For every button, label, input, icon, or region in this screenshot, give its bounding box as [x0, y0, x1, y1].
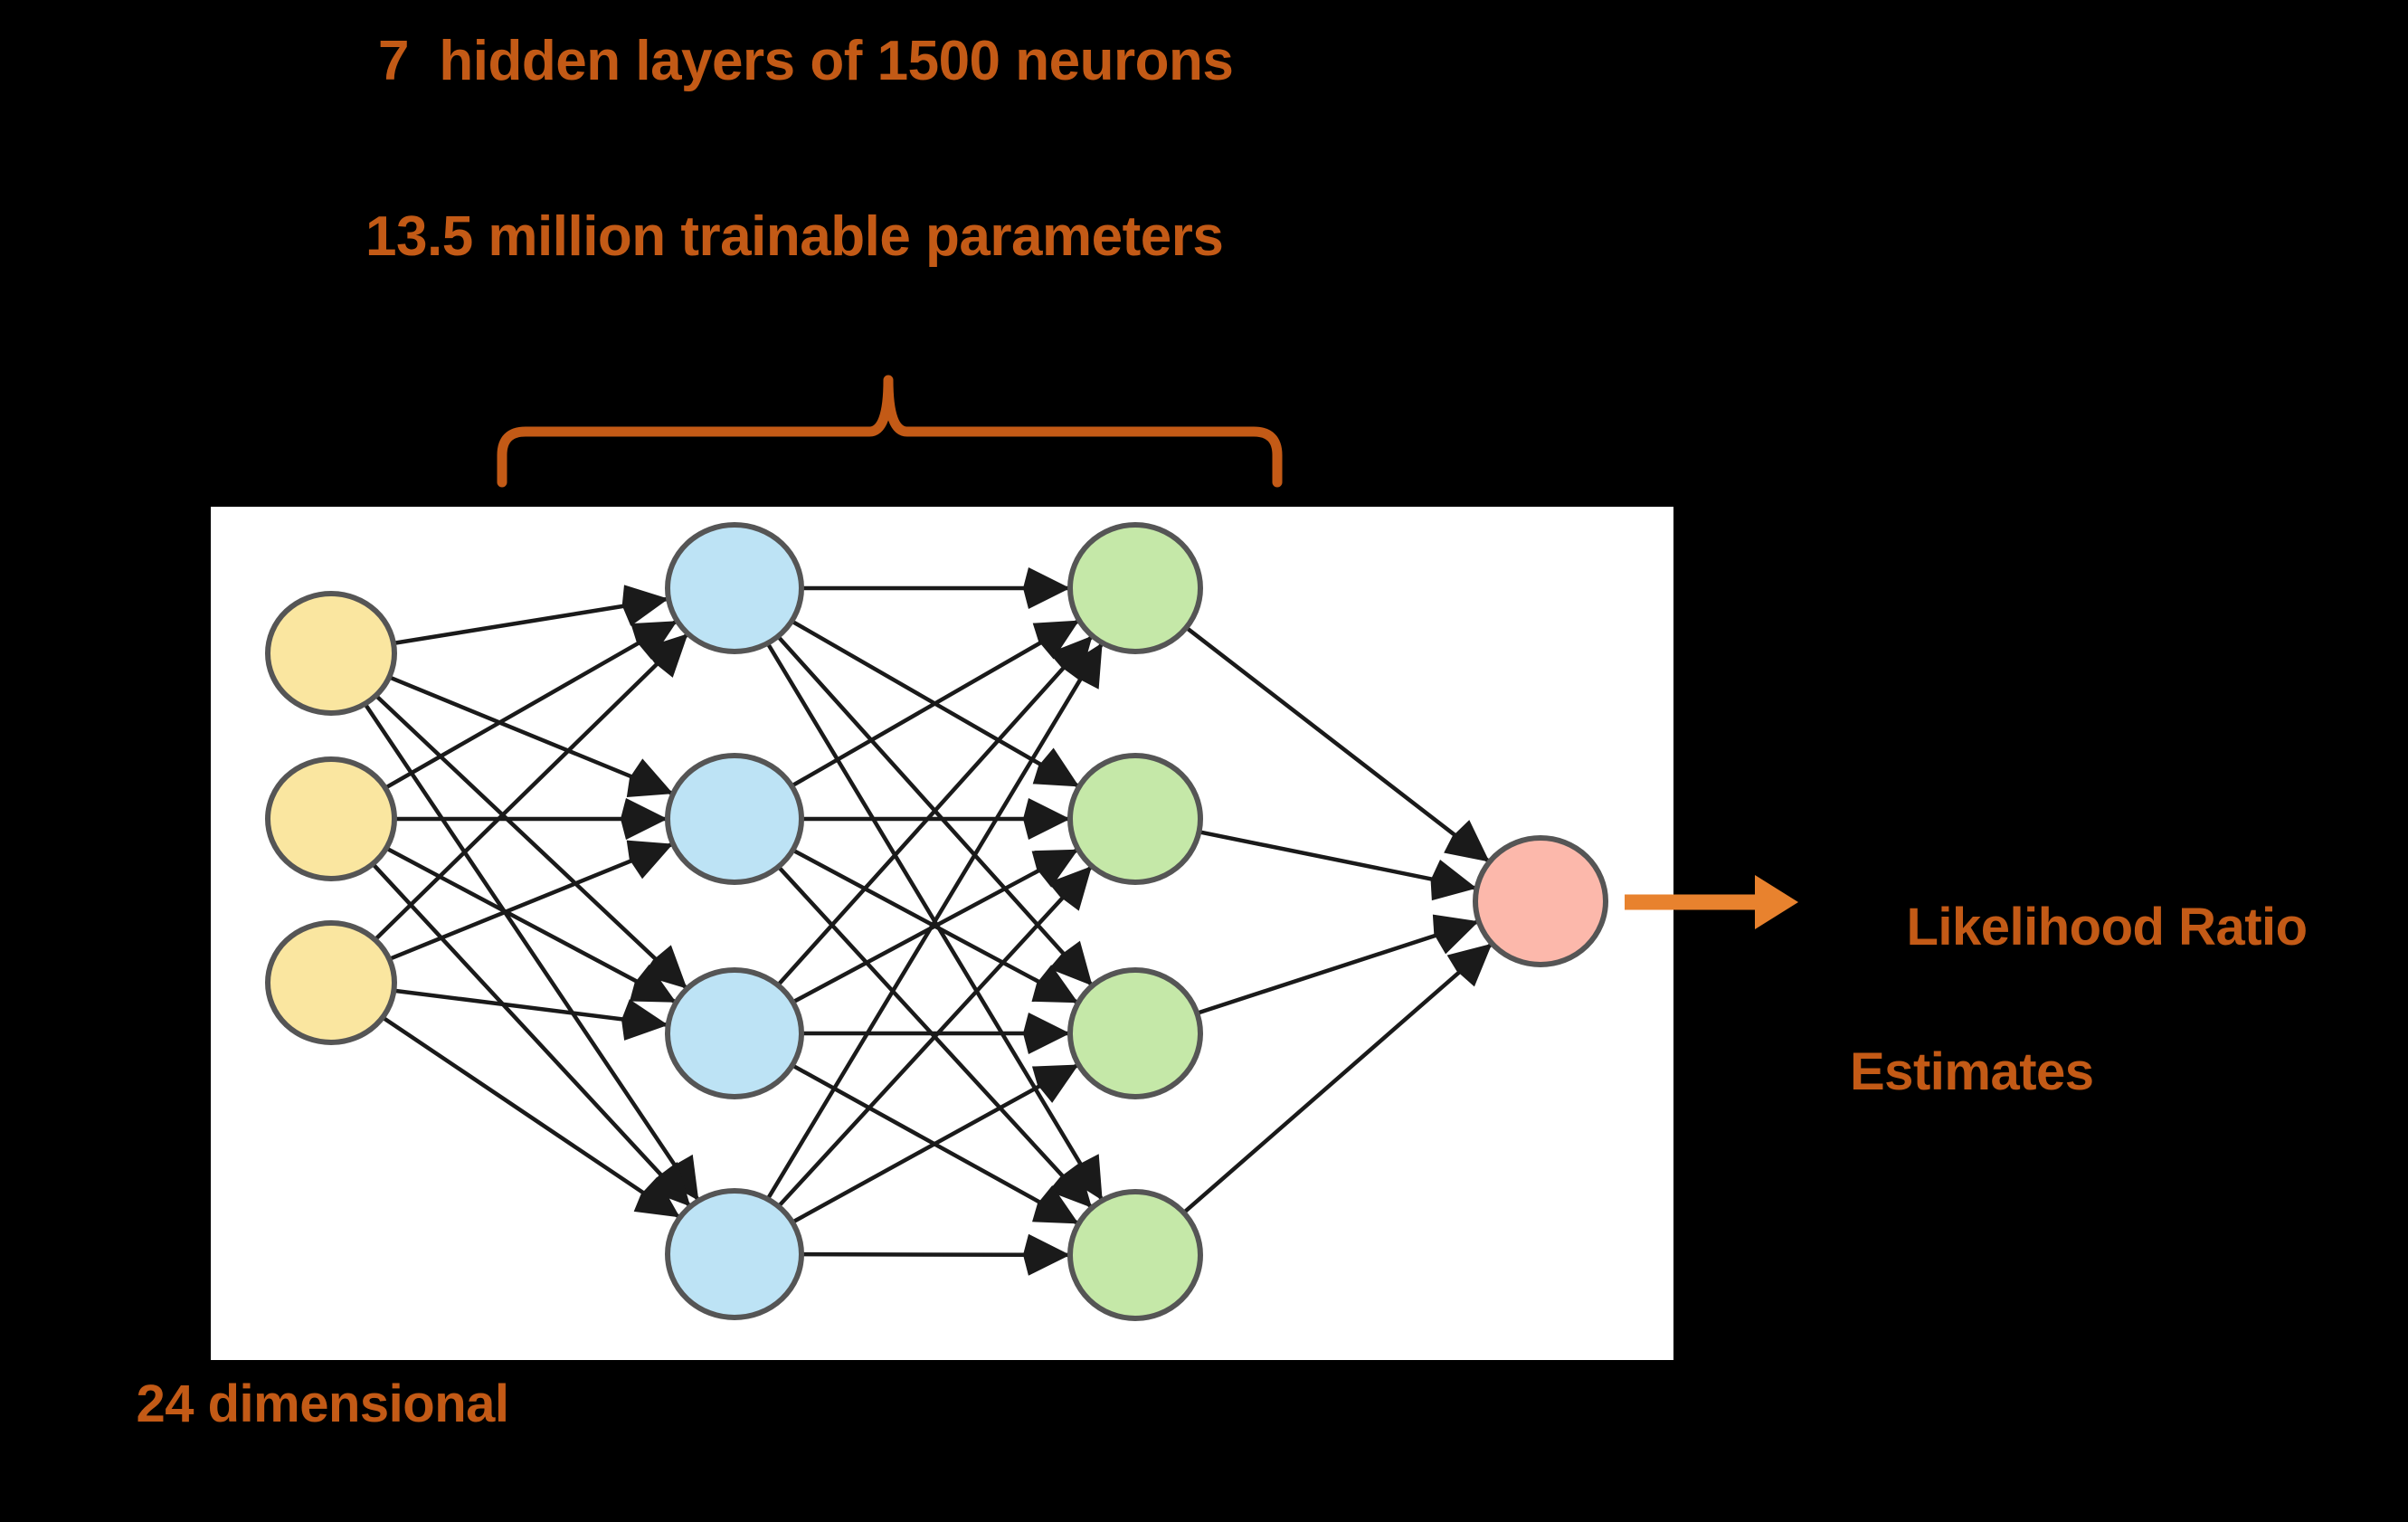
edge-arrowhead-icon	[1447, 944, 1493, 987]
edge-arrowhead-icon	[1444, 820, 1489, 861]
edge-arrowhead-icon	[1023, 798, 1070, 840]
network-edge	[389, 844, 673, 959]
network-edge	[1186, 628, 1489, 862]
neuron-node-output-layer-1	[1475, 838, 1606, 965]
network-edge	[385, 621, 678, 788]
edge-arrowhead-icon	[627, 758, 673, 797]
neuron-node-hidden-layer-2-3	[1070, 970, 1200, 1097]
output-arrow-head-icon	[1755, 875, 1798, 929]
neuron-node-hidden-layer-1-3	[668, 970, 801, 1097]
network-edge	[389, 677, 673, 794]
edge-arrowhead-icon	[621, 999, 668, 1041]
neural-network-graph	[0, 0, 2408, 1522]
edge-arrowhead-icon	[1023, 1013, 1070, 1054]
edges-group	[365, 588, 1492, 1255]
network-edge	[383, 1017, 680, 1217]
neuron-node-input-layer-2	[268, 759, 394, 879]
edge-arrowhead-icon	[627, 841, 673, 880]
edge-arrowhead-icon	[621, 798, 668, 840]
neuron-node-hidden-layer-1-1	[668, 525, 801, 652]
neuron-node-hidden-layer-2-4	[1070, 1192, 1200, 1318]
edge-arrowhead-icon	[1023, 567, 1070, 609]
neuron-node-input-layer-1	[268, 594, 394, 713]
edge-arrowhead-icon	[1033, 747, 1079, 786]
output-arrow	[1625, 875, 1798, 929]
edge-arrowhead-icon	[1433, 915, 1479, 955]
edge-arrowhead-icon	[1023, 1234, 1070, 1276]
network-edge	[1184, 944, 1493, 1213]
neuron-node-hidden-layer-1-4	[668, 1191, 801, 1317]
slide-canvas: 7 hidden layers of 1500 neurons 13.5 mil…	[0, 0, 2408, 1522]
neuron-node-hidden-layer-2-2	[1070, 756, 1200, 882]
neuron-node-hidden-layer-2-1	[1070, 525, 1200, 652]
neuron-node-hidden-layer-1-2	[668, 756, 801, 882]
output-arrow-shaft	[1625, 895, 1755, 910]
neuron-node-input-layer-3	[268, 923, 394, 1042]
edge-arrowhead-icon	[622, 585, 668, 625]
edge-arrowhead-icon	[1431, 860, 1477, 900]
network-edge	[373, 864, 690, 1207]
